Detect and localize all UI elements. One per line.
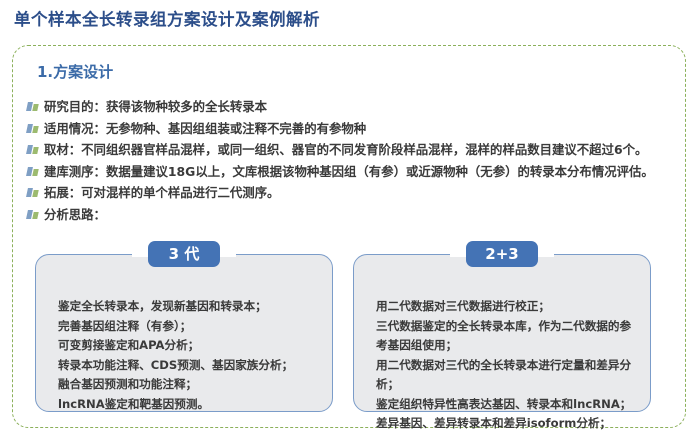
strategy-line: 差异基因、差异转录本和差异isoform分析； (376, 414, 636, 434)
strategy-line: 鉴定组织特异性高表达基因、转录本和lncRNA； (376, 395, 636, 415)
strategy-box-tag: 2+3 (466, 241, 538, 267)
leaf-bullet-icon (27, 209, 39, 221)
page-title: 单个样本全长转录组方案设计及案例解析 (14, 6, 320, 30)
strategy-box-tag: 3 代 (148, 241, 220, 267)
list-item: 拓展：可对混样的单个样品进行二代测序。 (27, 184, 675, 202)
strategy-box-second-plus-third-generation: 用二代数据对三代数据进行校正； 三代数据鉴定的全长转录本库，作为二代数据的参考基… (353, 241, 651, 413)
strategy-line: 三代数据鉴定的全长转录本库，作为二代数据的参考基因组使用； (376, 317, 636, 356)
list-item-text: 建库测序：数据量建议18G以上，文库根据该物种基因组（有参）或近源物种（无参）的… (44, 163, 654, 181)
leaf-bullet-icon (27, 166, 39, 178)
strategy-box-third-generation: 鉴定全长转录本，发现新基因和转录本； 完善基因组注释（有参）； 可变剪接鉴定和A… (35, 241, 333, 413)
list-item: 分析思路： (27, 206, 675, 224)
bullet-list: 研究目的：获得该物种较多的全长转录本 适用情况：无参物种、基因组组装或注释不完善… (27, 98, 675, 227)
section-heading: 1.方案设计 (35, 61, 123, 82)
list-item-text: 适用情况：无参物种、基因组组装或注释不完善的有参物种 (44, 120, 366, 138)
strategy-line: 用二代数据对三代的全长转录本进行定量和差异分析； (376, 356, 636, 395)
list-item: 适用情况：无参物种、基因组组装或注释不完善的有参物种 (27, 120, 675, 138)
strategy-box-lines: 用二代数据对三代数据进行校正； 三代数据鉴定的全长转录本库，作为二代数据的参考基… (376, 297, 636, 434)
list-item-text: 取材：不同组织器官样品混样，或同一组织、器官的不同发育阶段样品混样，混样的样品数… (44, 141, 647, 159)
leaf-bullet-icon (27, 123, 39, 135)
leaf-bullet-icon (27, 101, 39, 113)
strategy-box-body: 用二代数据对三代数据进行校正； 三代数据鉴定的全长转录本库，作为二代数据的参考基… (353, 254, 651, 412)
strategy-line: 转录本功能注释、CDS预测、基因家族分析； (58, 356, 318, 376)
list-item-text: 拓展：可对混样的单个样品进行二代测序。 (44, 184, 279, 202)
list-item: 研究目的：获得该物种较多的全长转录本 (27, 98, 675, 116)
list-item-text: 分析思路： (44, 206, 106, 224)
strategy-box-lines: 鉴定全长转录本，发现新基因和转录本； 完善基因组注释（有参）； 可变剪接鉴定和A… (58, 297, 318, 414)
strategy-box-body: 鉴定全长转录本，发现新基因和转录本； 完善基因组注释（有参）； 可变剪接鉴定和A… (35, 254, 333, 412)
leaf-bullet-icon (27, 144, 39, 156)
list-item: 建库测序：数据量建议18G以上，文库根据该物种基因组（有参）或近源物种（无参）的… (27, 163, 675, 181)
list-item-text: 研究目的：获得该物种较多的全长转录本 (44, 98, 267, 116)
scheme-design-panel: 1.方案设计 研究目的：获得该物种较多的全长转录本 适用情况：无参物种、基因组组… (12, 45, 686, 428)
strategy-line: 融合基因预测和功能注释； (58, 375, 318, 395)
strategy-line: lncRNA鉴定和靶基因预测。 (58, 395, 318, 415)
strategy-line: 鉴定全长转录本，发现新基因和转录本； (58, 297, 318, 317)
strategy-line: 可变剪接鉴定和APA分析； (58, 336, 318, 356)
strategy-line: 用二代数据对三代数据进行校正； (376, 297, 636, 317)
strategy-line: 完善基因组注释（有参）； (58, 317, 318, 337)
leaf-bullet-icon (27, 187, 39, 199)
list-item: 取材：不同组织器官样品混样，或同一组织、器官的不同发育阶段样品混样，混样的样品数… (27, 141, 675, 159)
analysis-strategy-boxes: 鉴定全长转录本，发现新基因和转录本； 完善基因组注释（有参）； 可变剪接鉴定和A… (13, 241, 685, 421)
